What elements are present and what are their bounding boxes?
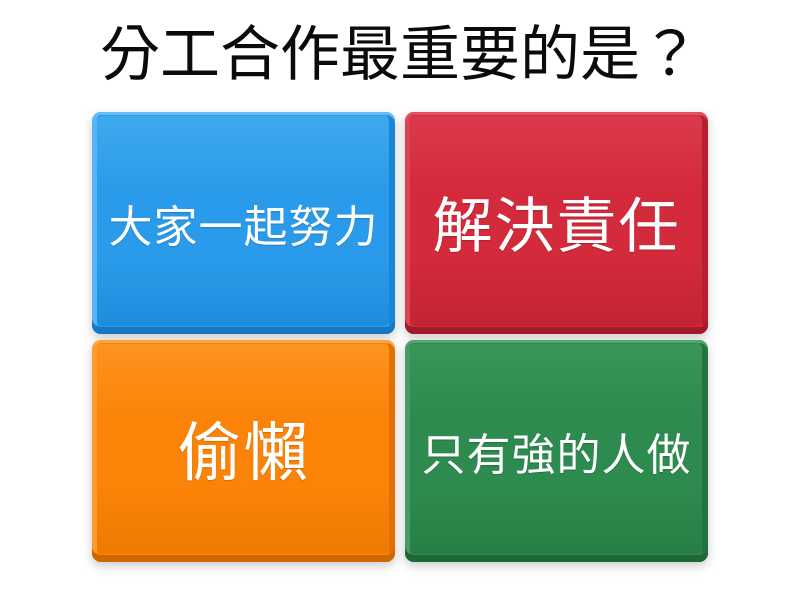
answer-label-4: 只有強的人做 [422, 434, 692, 478]
answer-card-3[interactable]: 偷懶 [92, 340, 395, 562]
answer-label-3: 偷懶 [178, 421, 310, 485]
answer-card-4[interactable]: 只有強的人做 [405, 340, 708, 562]
question-title: 分工合作最重要的是？ [0, 14, 800, 96]
answer-options-grid: 大家一起努力 解決責任 偷懶 只有強的人做 [92, 112, 708, 562]
answer-card-2[interactable]: 解決責任 [405, 112, 708, 334]
quiz-stage: 分工合作最重要的是？ 大家一起努力 解決責任 偷懶 只有強的人做 [0, 0, 800, 600]
answer-label-2: 解決責任 [433, 197, 681, 257]
answer-label-1: 大家一起努力 [109, 206, 379, 250]
answer-card-1[interactable]: 大家一起努力 [92, 112, 395, 334]
